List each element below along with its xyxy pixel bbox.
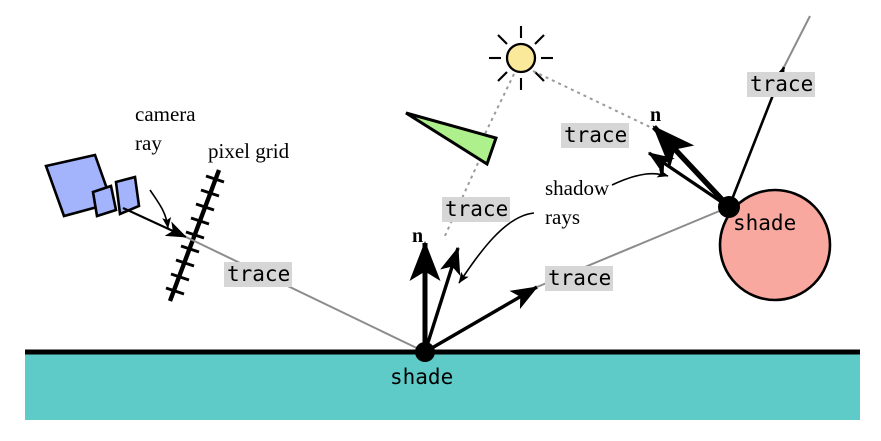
ray-tracing-diagram: camera ray pixel grid shadow rays trace … [0,0,881,441]
dotted-ray-light-to-triangle [482,74,514,140]
trace-label-camera-ray: trace [224,262,292,287]
trace-label-ground-reflection: trace [545,266,613,291]
camera-ray-label-line2: ray [135,133,162,154]
triangle-object [406,113,496,164]
shade-label-ground: shade [390,367,453,388]
sphere-shade-rays [649,16,810,218]
light-source-icon [489,26,553,90]
normal-label-sphere: n [650,105,661,125]
shadow-rays-label-line1: shadow [545,178,609,199]
camera-ray-label-line1: camera [135,104,196,125]
shade-label-sphere: shade [733,213,796,234]
pixel-grid-label: pixel grid [208,141,289,162]
sun-disc [507,44,535,72]
shadow-rays-label-line2: rays [545,207,580,228]
ground-shade-point-dot [415,342,435,362]
trace-label-sphere-reflection: trace [747,72,815,97]
normal-label-ground: n [412,226,423,246]
camera-icon [46,155,139,216]
trace-label-sphere-shadow: trace [561,123,629,148]
dotted-ray-light-to-sphere [533,71,650,127]
sphere-reflection-ray-tail [784,16,810,67]
shadow-rays-leader-left [459,213,534,283]
camera-lens [116,177,139,214]
trace-label-ground-shadow: trace [442,197,510,222]
pixel-grid [166,170,224,301]
shadow-rays-leader-right [612,174,668,185]
camera-neck [93,186,116,216]
sphere-normal-arrow [654,127,729,207]
